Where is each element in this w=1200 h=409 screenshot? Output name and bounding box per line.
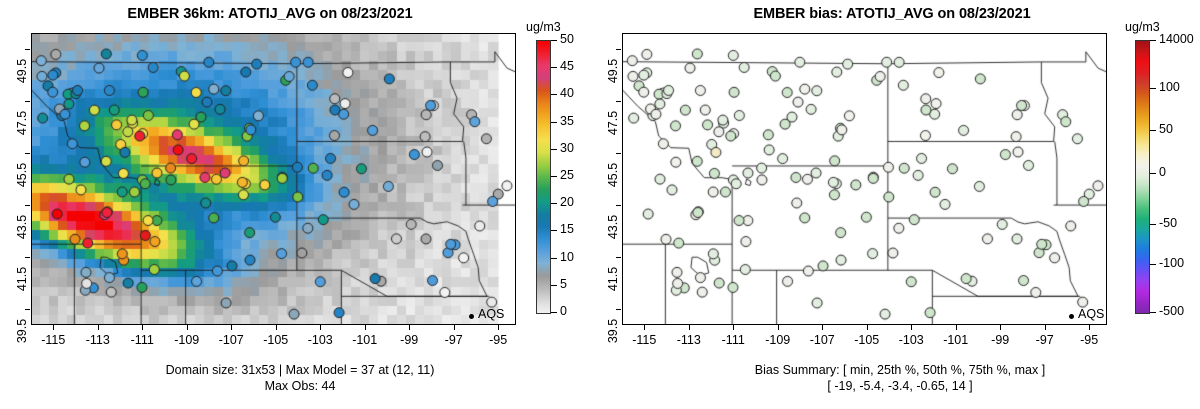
x-axis-label: -99	[386, 333, 432, 347]
x-axis-label: -109	[755, 333, 801, 347]
colorbar-tick	[551, 176, 557, 177]
colorbar-tick-label: 0	[560, 304, 567, 318]
y-axis-label: 39.5	[606, 308, 620, 354]
plot-area-bias	[622, 33, 1107, 325]
figure-root: EMBER 36km: ATOTIJ_AVG on 08/23/2021 -11…	[0, 0, 1200, 409]
model-overlay-markers	[31, 33, 516, 325]
colorbar-tick	[551, 312, 557, 313]
x-axis-tick	[409, 325, 410, 330]
caption-model-line2: Max Obs: 44	[0, 379, 600, 393]
x-axis-tick	[956, 325, 957, 330]
caption-bias-line1: Bias Summary: [ min, 25th %, 50th %, 75t…	[600, 363, 1200, 377]
x-axis-tick	[689, 325, 690, 330]
colorbar-tick-label: 0	[1159, 165, 1166, 179]
x-axis-tick	[644, 325, 645, 330]
colorbar-tick-label: 50	[560, 32, 574, 46]
colorbar-tick	[1150, 312, 1156, 313]
colorbar-tick-label: 5	[560, 277, 567, 291]
colorbar-gradient	[1135, 40, 1150, 314]
colorbar-tick	[551, 149, 557, 150]
colorbar-units: ug/m3	[526, 20, 561, 34]
panel-title-bias: EMBER bias: ATOTIJ_AVG on 08/23/2021	[622, 6, 1162, 22]
colorbar-tick	[1150, 224, 1156, 225]
x-axis-tick	[53, 325, 54, 330]
colorbar-tick	[551, 285, 557, 286]
x-axis-tick	[98, 325, 99, 330]
x-axis-label: -95	[1066, 333, 1112, 347]
x-axis-label: -111	[710, 333, 756, 347]
x-axis-label: -97	[431, 333, 477, 347]
x-axis-label: -101	[342, 333, 388, 347]
colorbar-tick-label: 25	[560, 168, 574, 182]
colorbar-tick	[1150, 130, 1156, 131]
x-axis-label: -115	[30, 333, 76, 347]
x-axis-tick	[142, 325, 143, 330]
colorbar-tick-label: 20	[560, 195, 574, 209]
y-axis-label: 45.5	[606, 152, 620, 198]
colorbar-tick	[551, 203, 557, 204]
colorbar-tick	[551, 67, 557, 68]
x-axis-tick	[822, 325, 823, 330]
colorbar-tick-label: -100	[1159, 256, 1184, 270]
caption-bias-line2: [ -19, -5.4, -3.4, -0.65, 14 ]	[600, 379, 1200, 393]
colorbar-tick-label: 45	[560, 59, 574, 73]
y-axis-label: 39.5	[15, 308, 29, 354]
x-axis-label: -101	[933, 333, 979, 347]
x-axis-label: -97	[1022, 333, 1068, 347]
colorbar-tick-label: 35	[560, 114, 574, 128]
x-axis-tick	[1089, 325, 1090, 330]
x-axis-tick	[187, 325, 188, 330]
colorbar-tick	[551, 122, 557, 123]
x-axis-label: -113	[75, 333, 121, 347]
colorbar-gradient	[536, 40, 551, 314]
x-axis-tick	[778, 325, 779, 330]
colorbar-tick	[1150, 88, 1156, 89]
x-axis-tick	[498, 325, 499, 330]
x-axis-tick	[454, 325, 455, 330]
colorbar-tick	[1150, 40, 1156, 41]
colorbar-units: ug/m3	[1125, 20, 1160, 34]
aqs-legend-dot-bias	[1069, 314, 1074, 319]
colorbar-tick	[1150, 264, 1156, 265]
y-axis-label: 47.5	[606, 100, 620, 146]
x-axis-label: -103	[297, 333, 343, 347]
colorbar-tick	[551, 230, 557, 231]
x-axis-label: -111	[119, 333, 165, 347]
colorbar-tick	[1150, 173, 1156, 174]
x-axis-tick	[911, 325, 912, 330]
x-axis-tick	[1000, 325, 1001, 330]
colorbar-tick-label: 15	[560, 222, 574, 236]
colorbar-tick-label: 100	[1159, 80, 1180, 94]
x-axis-label: -115	[621, 333, 667, 347]
aqs-legend-label-bias: AQS	[1078, 307, 1104, 321]
x-axis-label: -107	[799, 333, 845, 347]
x-axis-label: -107	[208, 333, 254, 347]
panel-title-model: EMBER 36km: ATOTIJ_AVG on 08/23/2021	[0, 6, 540, 22]
colorbar-tick	[551, 258, 557, 259]
y-axis-label: 47.5	[15, 100, 29, 146]
colorbar-tick-label: 40	[560, 86, 574, 100]
x-axis-label: -109	[164, 333, 210, 347]
aqs-legend-label-model: AQS	[478, 307, 504, 321]
colorbar-tick	[551, 94, 557, 95]
colorbar-tick-label: -500	[1159, 304, 1184, 318]
y-axis-label: 45.5	[15, 152, 29, 198]
x-axis-tick	[231, 325, 232, 330]
x-axis-tick	[320, 325, 321, 330]
caption-model-line1: Domain size: 31x53 | Max Model = 37 at (…	[0, 363, 600, 377]
y-axis-label: 43.5	[606, 204, 620, 250]
y-axis-label: 43.5	[15, 204, 29, 250]
colorbar-tick-label: 50	[1159, 122, 1173, 136]
panel-model: EMBER 36km: ATOTIJ_AVG on 08/23/2021 -11…	[0, 0, 600, 409]
panel-bias: EMBER bias: ATOTIJ_AVG on 08/23/2021 -11…	[600, 0, 1200, 409]
x-axis-label: -113	[666, 333, 712, 347]
plot-area-model	[31, 33, 516, 325]
y-axis-label: 41.5	[606, 256, 620, 302]
x-axis-tick	[733, 325, 734, 330]
x-axis-label: -99	[977, 333, 1023, 347]
x-axis-tick	[1045, 325, 1046, 330]
x-axis-tick	[867, 325, 868, 330]
y-axis-label: 49.5	[15, 48, 29, 94]
y-axis-label: 49.5	[606, 48, 620, 94]
x-axis-tick	[365, 325, 366, 330]
x-axis-label: -103	[888, 333, 934, 347]
colorbar-tick	[551, 40, 557, 41]
x-axis-label: -105	[253, 333, 299, 347]
x-axis-label: -95	[475, 333, 521, 347]
colorbar-tick-label: 14000	[1159, 32, 1194, 46]
y-axis-label: 41.5	[15, 256, 29, 302]
colorbar-tick-label: 30	[560, 141, 574, 155]
x-axis-label: -105	[844, 333, 890, 347]
colorbar-tick-label: 10	[560, 250, 574, 264]
bias-overlay-markers	[622, 33, 1107, 325]
aqs-legend-dot-model	[469, 314, 474, 319]
x-axis-tick	[276, 325, 277, 330]
colorbar-tick-label: -50	[1159, 216, 1177, 230]
